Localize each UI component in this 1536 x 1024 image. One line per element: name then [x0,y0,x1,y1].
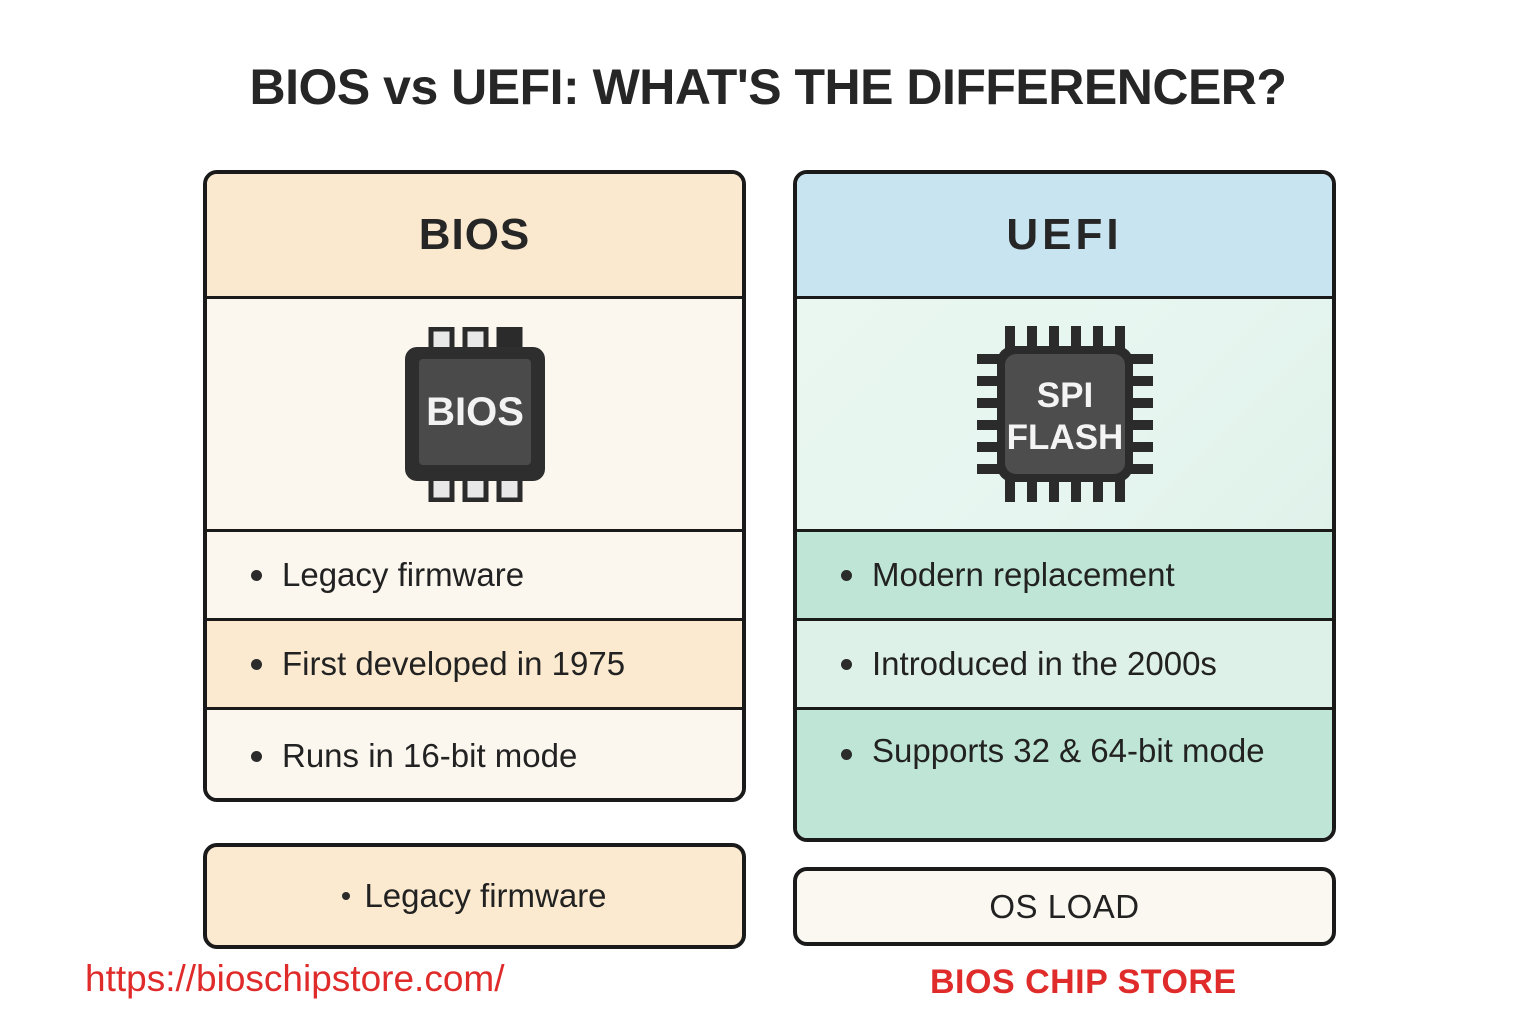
bios-bullet-row: First developed in 1975 [207,621,742,710]
page-title: BIOS vs UEFI: WHAT'S THE DIFFERENCER? [0,58,1536,116]
bios-chip-icon: BIOS [395,327,555,502]
bullet-dot-icon [841,659,852,670]
uefi-bullet-row: Introduced in the 2000s [797,621,1332,710]
bios-card-header: BIOS [207,174,742,299]
bios-bullet-label: Runs in 16-bit mode [282,737,577,776]
bios-summary-box: Legacy firmware [203,843,746,949]
spi-flash-chip-icon-label-line2: FLASH [1006,418,1123,457]
bios-icon-area: BIOS [207,299,742,532]
bios-chip-icon-label: BIOS [426,390,524,434]
bios-card-header-label: BIOS [419,210,531,260]
uefi-bullet-label: Modern replacement [872,556,1175,595]
bios-comparison-card: BIOS BIOS Legacy firmware First develope… [203,170,746,802]
uefi-card-header: UEFI [797,174,1332,299]
uefi-summary-box-label: OS LOAD [989,888,1139,926]
uefi-bullet-label: Introduced in the 2000s [872,645,1217,684]
uefi-comparison-card: UEFI [793,170,1336,842]
spi-flash-chip-icon-label-line1: SPI [1036,376,1092,415]
bullet-dot-icon [841,570,852,581]
bullet-dot-icon [841,749,852,760]
bios-bullet-label: Legacy firmware [282,556,524,595]
bios-bullet-row: Runs in 16-bit mode [207,710,742,802]
bios-summary-box-label: Legacy firmware [364,877,606,915]
uefi-bullet-row: Modern replacement [797,532,1332,621]
uefi-icon-area: SPI FLASH [797,299,1332,532]
bios-bullet-label: First developed in 1975 [282,645,625,684]
footer-brand-name: BIOS CHIP STORE [930,963,1237,1002]
bullet-dot-icon [251,570,262,581]
uefi-card-header-label: UEFI [1006,210,1122,260]
bios-summary-box-content: Legacy firmware [342,877,606,915]
spi-flash-chip-icon: SPI FLASH [975,324,1155,504]
bullet-dot-icon [251,659,262,670]
uefi-bullet-row: Supports 32 & 64-bit mode [797,710,1332,842]
footer-website-url[interactable]: https://bioschipstore.com/ [85,958,505,1000]
uefi-summary-box: OS LOAD [793,867,1336,946]
uefi-bullet-label: Supports 32 & 64-bit mode [872,732,1265,771]
bios-bullet-row: Legacy firmware [207,532,742,621]
bullet-dot-icon [342,892,350,900]
bullet-dot-icon [251,751,262,762]
